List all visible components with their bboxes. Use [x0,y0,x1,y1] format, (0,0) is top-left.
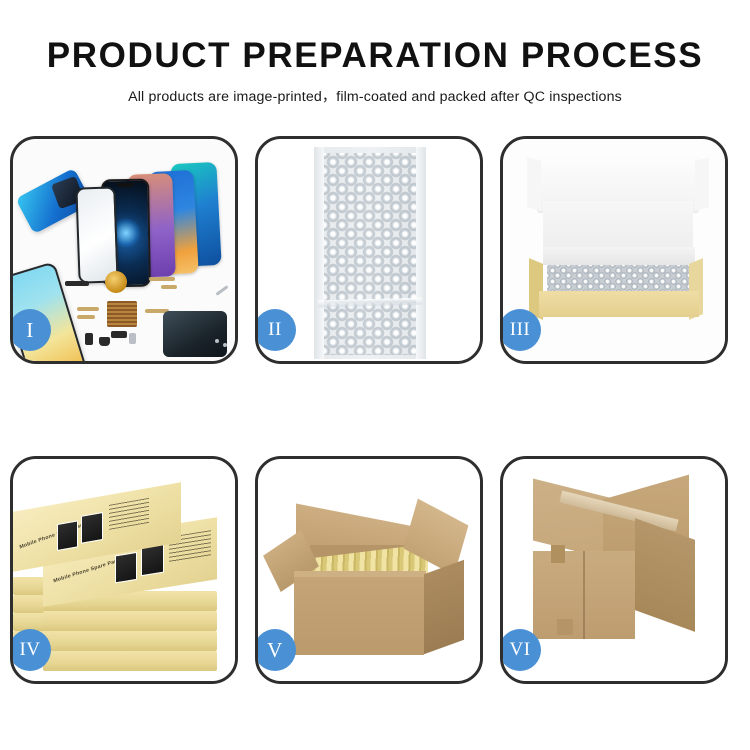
step-badge-2: II [255,309,296,351]
volume-flex-cable-part [161,285,177,289]
earpiece-mesh-part [65,281,89,286]
process-step-3: III [500,136,728,364]
step-badge-3: III [500,309,541,351]
logic-board-chip-part [107,301,137,327]
sim-tray-part [85,333,93,345]
kraft-box-stacked [43,611,217,631]
step-badge-4: IV [10,629,51,671]
carton-side-panel [424,560,464,655]
tempered-glass-protector [75,186,118,283]
page-title: PRODUCT PREPARATION PROCESS [0,0,750,75]
wrap-edge-right [416,147,426,359]
process-step-4: Mobile Phone Spare Parts Mobile Phone Sp… [10,456,238,684]
step-badge-5: V [255,629,296,671]
box-artwork-screen [57,520,78,551]
process-step-6: VI [500,456,728,684]
power-flex-cable-part [149,277,175,281]
speaker-part [111,331,127,338]
phone-notch-icon [116,183,134,187]
taptic-engine-part [99,337,110,346]
page-header: PRODUCT PREPARATION PROCESS All products… [0,0,750,106]
process-step-grid: I II [10,136,740,684]
wireless-coil-part [105,271,127,293]
sensor-flex-part [77,315,95,319]
carton-tab-lower [557,619,573,635]
bubble-wrapped-contents [547,265,693,293]
process-step-5: V [255,456,483,684]
step-badge-1: I [10,309,51,351]
box-artwork-screen [115,552,137,583]
carton-tab-upper [551,545,565,563]
box-front-panel [539,291,699,317]
screw-part [223,343,227,347]
carton-edge-seam [583,551,585,639]
step-badge-6: VI [500,629,541,671]
screw-part [215,339,219,343]
wrap-edge-left [314,147,324,359]
carton-front-panel [294,577,424,655]
foam-liner [543,247,695,265]
kraft-box-stacked [43,631,217,651]
page-subtitle: All products are image-printed，film-coat… [0,75,750,106]
box-spec-lines [109,498,149,530]
kraft-box-stacked [43,651,217,671]
spare-parts-cluster [65,271,235,361]
antenna-flex-part [77,307,99,311]
tweezers-icon [215,285,228,296]
disassembled-phone-board [163,311,227,357]
bubble-wrapped-package [314,147,426,359]
bubble-texture [324,153,416,355]
box-artwork-screen [81,512,103,544]
process-step-2: II [255,136,483,364]
process-step-1: I [10,136,238,364]
button-part [129,333,136,344]
